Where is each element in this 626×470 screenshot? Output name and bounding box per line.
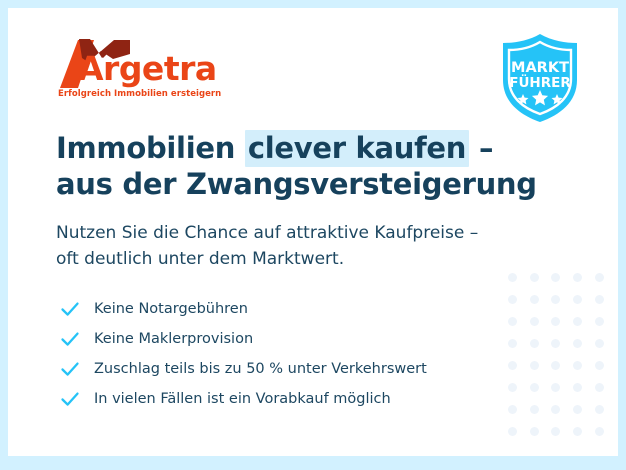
logo-mark-row: Argetra [56, 36, 256, 88]
benefit-item: Keine Notargebühren [60, 294, 618, 324]
ad-banner: Argetra Erfolgreich Immobilien ersteiger… [0, 0, 626, 470]
logo-tagline: Erfolgreich Immobilien ersteigern [56, 89, 256, 99]
decorative-dot [551, 427, 560, 436]
check-icon [60, 359, 80, 379]
check-icon [60, 329, 80, 349]
headline-text-after: – [469, 131, 493, 165]
page-title: Immobilien clever kaufen – aus der Zwang… [56, 130, 618, 202]
decorative-dot [508, 427, 517, 436]
decorative-dot [530, 427, 539, 436]
check-icon [60, 389, 80, 409]
subheadline-line-1: Nutzen Sie die Chance auf attraktive Kau… [56, 220, 618, 246]
subheadline: Nutzen Sie die Chance auf attraktive Kau… [56, 220, 618, 272]
banner-content: Immobilien clever kaufen – aus der Zwang… [56, 130, 618, 414]
benefit-label: In vielen Fällen ist ein Vorabkauf mögli… [94, 389, 391, 409]
argetra-logo[interactable]: Argetra Erfolgreich Immobilien ersteiger… [56, 36, 256, 99]
benefit-item: Zuschlag teils bis zu 50 % unter Verkehr… [60, 354, 618, 384]
badge-line2: FÜHRER [509, 73, 571, 91]
banner-header: Argetra Erfolgreich Immobilien ersteiger… [8, 8, 618, 120]
benefit-label: Keine Notargebühren [94, 299, 248, 319]
decorative-dot [595, 427, 604, 436]
benefit-label: Keine Maklerprovision [94, 329, 253, 349]
market-leader-badge: MARKT FÜHRER [498, 32, 582, 124]
benefit-label: Zuschlag teils bis zu 50 % unter Verkehr… [94, 359, 427, 379]
benefits-list: Keine NotargebührenKeine Maklerprovision… [60, 294, 618, 414]
subheadline-line-2: oft deutlich unter dem Marktwert. [56, 246, 618, 272]
badge-line1: MARKT [511, 60, 569, 76]
benefit-item: Keine Maklerprovision [60, 324, 618, 354]
check-icon [60, 299, 80, 319]
headline-highlight: clever kaufen [245, 130, 469, 167]
ad-card: Argetra Erfolgreich Immobilien ersteiger… [8, 8, 618, 456]
decorative-dot [573, 427, 582, 436]
benefit-item: In vielen Fällen ist ein Vorabkauf mögli… [60, 384, 618, 414]
logo-wordmark: Argetra [78, 50, 217, 88]
headline-text-before: Immobilien [56, 131, 245, 165]
headline-line-2: aus der Zwangsversteigerung [56, 166, 618, 202]
headline-line-1: Immobilien clever kaufen – [56, 130, 618, 166]
